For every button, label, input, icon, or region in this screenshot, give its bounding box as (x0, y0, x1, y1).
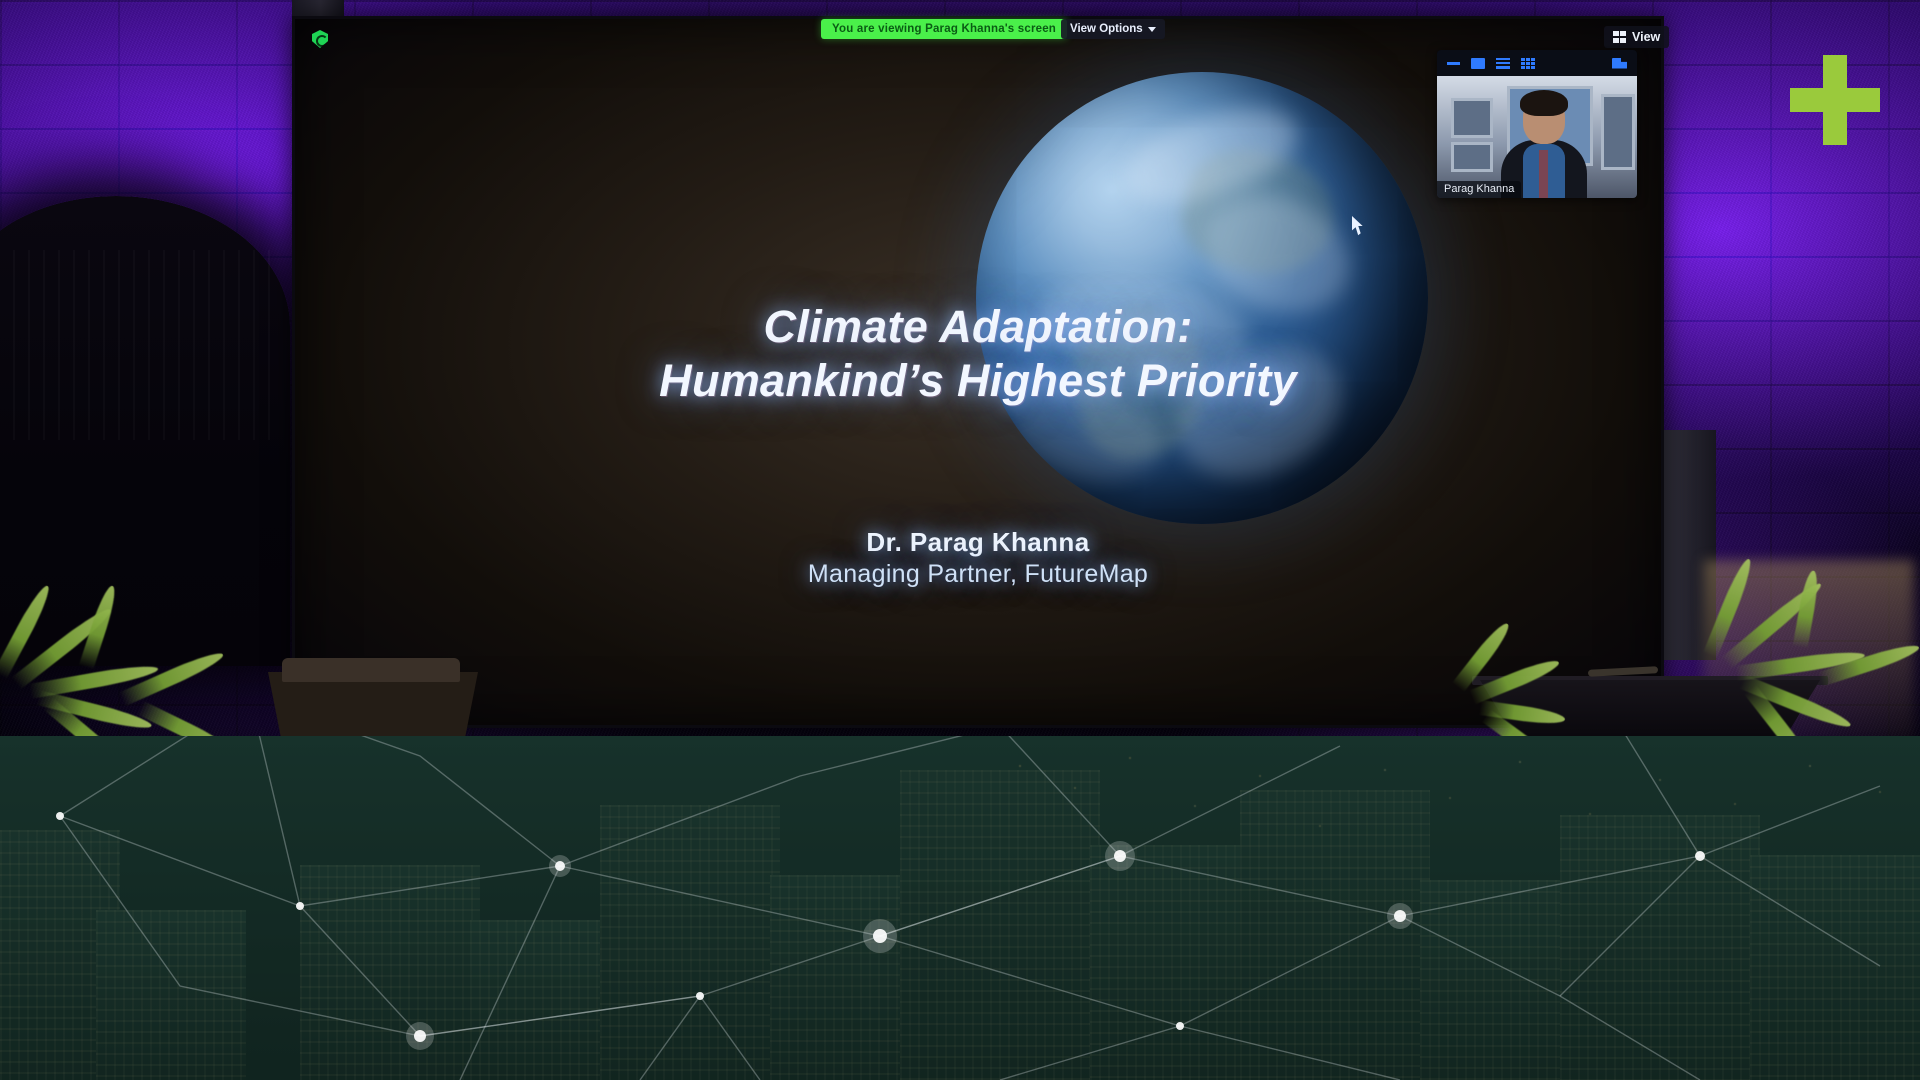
view-options-label: View Options (1070, 23, 1143, 35)
view-button-label: View (1632, 30, 1660, 44)
screenshot-root: Climate Adaptation: Humankind’s Highest … (0, 0, 1920, 1080)
participant-thumbnail[interactable]: Parag Khanna (1437, 50, 1637, 198)
plus-icon (1790, 55, 1880, 145)
speaker-view-icon[interactable] (1471, 58, 1485, 69)
participant-name-label: Parag Khanna (1437, 181, 1521, 198)
slide-title-line-2: Humankind’s Highest Priority (292, 354, 1664, 408)
gallery-view-icon[interactable] (1521, 58, 1535, 69)
viewing-screen-banner: You are viewing Parag Khanna's screen (821, 19, 1067, 39)
conference-photo: Climate Adaptation: Humankind’s Highest … (0, 0, 1920, 736)
view-button[interactable]: View (1604, 26, 1669, 48)
stage-planter (282, 658, 460, 682)
view-options-button[interactable]: View Options (1061, 19, 1165, 39)
slide-presenter-name: Dr. Parag Khanna (292, 527, 1664, 558)
slide-presenter-role: Managing Partner, FutureMap (292, 560, 1664, 589)
side-by-side-icon[interactable] (1496, 58, 1510, 69)
network-graphic (0, 736, 1920, 1080)
popout-icon[interactable] (1612, 58, 1627, 69)
podium (1480, 680, 1820, 736)
thumbnail-toolbar (1437, 50, 1637, 76)
title-banner: Climate Adaptation: Humankind's Highest … (0, 736, 1920, 1080)
viewing-screen-label: You are viewing Parag Khanna's screen (832, 23, 1056, 35)
participant-video: Parag Khanna (1437, 76, 1637, 198)
minimize-icon[interactable] (1447, 62, 1460, 65)
slide-title-line-1: Climate Adaptation: (292, 300, 1664, 354)
earth-globe-graphic (976, 72, 1428, 524)
stage-arch (0, 196, 290, 666)
grid-icon (1613, 31, 1626, 43)
slide-title: Climate Adaptation: Humankind’s Highest … (292, 300, 1664, 408)
chevron-down-icon (1148, 27, 1156, 32)
